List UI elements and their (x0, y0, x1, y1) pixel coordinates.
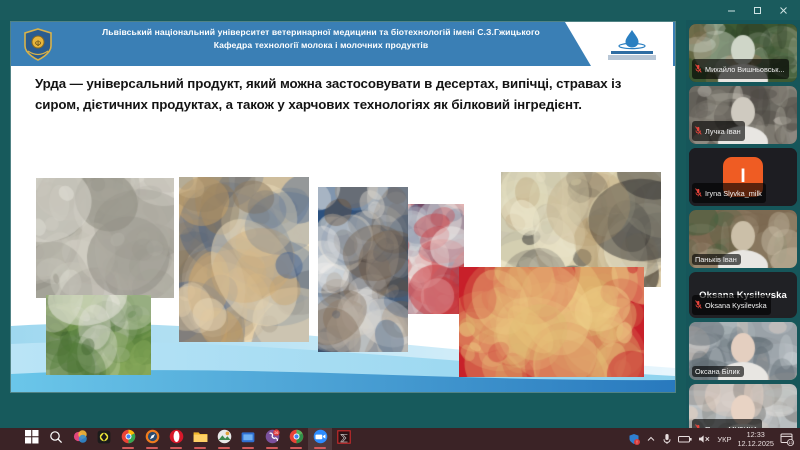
participant-tile[interactable]: Oksana KysilevskaOksana Kysilevska (689, 272, 797, 318)
photo-dessert-bowls (318, 187, 408, 352)
chrome-icon (121, 429, 136, 449)
photos-icon (217, 429, 232, 449)
microphone-icon[interactable] (662, 433, 672, 445)
volume-muted-icon[interactable] (698, 434, 711, 444)
participant-tile[interactable]: Оксана Білик (689, 322, 797, 380)
mic-muted-icon (695, 184, 702, 202)
taskbar-app-list: 26⅀ (0, 428, 356, 450)
app-yellow-icon (97, 430, 111, 449)
participant-name-label: Iryna Slyvka_milk (705, 189, 762, 198)
slide-header-banner: Φ Львівський національний університет ве… (11, 22, 675, 66)
restore-button[interactable] (744, 1, 770, 19)
running-indicator (266, 447, 278, 449)
store-icon (241, 430, 255, 449)
participant-nametag: Михайло Вишньовськ... (692, 59, 789, 79)
running-indicator (314, 447, 326, 449)
start-button[interactable] (20, 428, 44, 450)
logo-caption-bar (611, 51, 653, 54)
chrome-button[interactable] (116, 428, 140, 450)
participant-name-label: Паньків Іван (695, 255, 737, 264)
close-button[interactable] (770, 1, 796, 19)
viber-button[interactable]: 26 (260, 428, 284, 450)
zoom-icon (313, 429, 328, 449)
app-yellow[interactable] (92, 428, 116, 450)
participant-name-label: Оксана Білик (695, 367, 740, 376)
presentation-slide: Φ Львівський національний університет ве… (11, 22, 675, 392)
svg-text:⅀: ⅀ (340, 432, 348, 442)
running-indicator (122, 447, 134, 449)
slide-body-text: Урда — універсальний продукт, який можна… (35, 74, 653, 115)
windows-taskbar: 26⅀ ! УКР 12:33 12.12.2025 13 (0, 428, 800, 450)
windows-icon (25, 430, 39, 449)
photo-varenyky-dumplings (179, 177, 309, 342)
copilot-button[interactable] (68, 428, 92, 450)
running-indicator (290, 447, 302, 449)
viber-icon: 26 (265, 429, 280, 449)
svg-text:26: 26 (274, 431, 278, 435)
university-crest-icon: Φ (23, 28, 53, 61)
clock-date[interactable]: 12.12.2025 (737, 439, 774, 448)
participant-name-label: Oksana Kysilevska (705, 301, 767, 310)
mic-muted-icon (695, 296, 702, 314)
participants-strip[interactable]: Михайло Вишньовськ...Лучка ІванIIryna Sl… (686, 20, 800, 428)
running-indicator (146, 447, 158, 449)
participant-tile[interactable]: Паньків Іван (689, 210, 797, 268)
mic-muted-icon (695, 122, 702, 140)
photo-cheesecake (459, 267, 644, 377)
screen-share-area[interactable]: Φ Львівський національний університет ве… (0, 20, 686, 428)
file-explorer[interactable] (188, 428, 212, 450)
header-title-block: Львівський національний університет вете… (63, 26, 579, 53)
svg-text:!: ! (637, 440, 638, 445)
opera-button[interactable] (164, 428, 188, 450)
clock-time[interactable]: 12:33 (737, 430, 774, 439)
participant-nametag: Лучка Іван (692, 121, 745, 141)
mic-muted-icon (695, 60, 702, 78)
participant-name-label: Лучка Іван (705, 127, 741, 136)
header-line-1: Львівський національний університет вете… (63, 26, 579, 39)
participant-tile[interactable]: IIryna Slyvka_milk (689, 148, 797, 206)
participant-tile[interactable]: Михайло Вишньовськ... (689, 24, 797, 82)
security-shield-icon[interactable]: ! (628, 433, 640, 445)
photo-salad-with-cheese (46, 295, 151, 375)
chrome-beta-button[interactable] (284, 428, 308, 450)
opera-icon (169, 429, 184, 449)
clock: 12:33 12.12.2025 (737, 430, 774, 448)
running-indicator (242, 447, 254, 449)
battery-icon[interactable] (678, 434, 692, 444)
acrobat-button[interactable]: ⅀ (332, 428, 356, 450)
zoom-button[interactable] (308, 428, 332, 450)
participant-nametag: Oksana Kysilevska (692, 295, 771, 315)
logo-caption-text (608, 55, 656, 60)
copilot-icon (73, 429, 88, 449)
header-line-2: Кафедра технології молока і молочних про… (63, 39, 579, 52)
zoom-meeting-window: Φ Львівський національний університет ве… (0, 0, 800, 428)
store-button[interactable] (236, 428, 260, 450)
photos-button[interactable] (212, 428, 236, 450)
search-button[interactable] (44, 428, 68, 450)
folder-icon (193, 430, 208, 448)
water-drop-logo-icon (591, 22, 673, 66)
compass-icon (145, 429, 160, 449)
search-icon (49, 430, 63, 449)
language-indicator[interactable]: УКР (717, 435, 731, 444)
running-indicator (218, 447, 230, 449)
participant-nametag: Оксана Білик (692, 366, 744, 377)
taskbar-system-tray: ! УКР 12:33 12.12.2025 13 (628, 430, 800, 448)
chrome-beta-icon (289, 429, 304, 449)
running-indicator (170, 447, 182, 449)
minimize-button[interactable] (718, 1, 744, 19)
window-titlebar (0, 0, 800, 20)
participant-nametag: Паньків Іван (692, 254, 741, 265)
participant-nametag: Iryna Slyvka_milk (692, 183, 766, 203)
running-indicator (194, 447, 206, 449)
participant-tile[interactable]: Лучка Іван (689, 86, 797, 144)
acrobat-icon: ⅀ (337, 430, 351, 449)
browser-orange[interactable] (140, 428, 164, 450)
photo-urda-cheese-block (36, 178, 174, 298)
notification-icon[interactable]: 13 (780, 432, 794, 446)
participant-name-label: Михайло Вишньовськ... (705, 65, 785, 74)
svg-text:Φ: Φ (35, 39, 41, 48)
chevron-up-icon[interactable] (646, 434, 656, 444)
svg-text:13: 13 (788, 440, 793, 445)
